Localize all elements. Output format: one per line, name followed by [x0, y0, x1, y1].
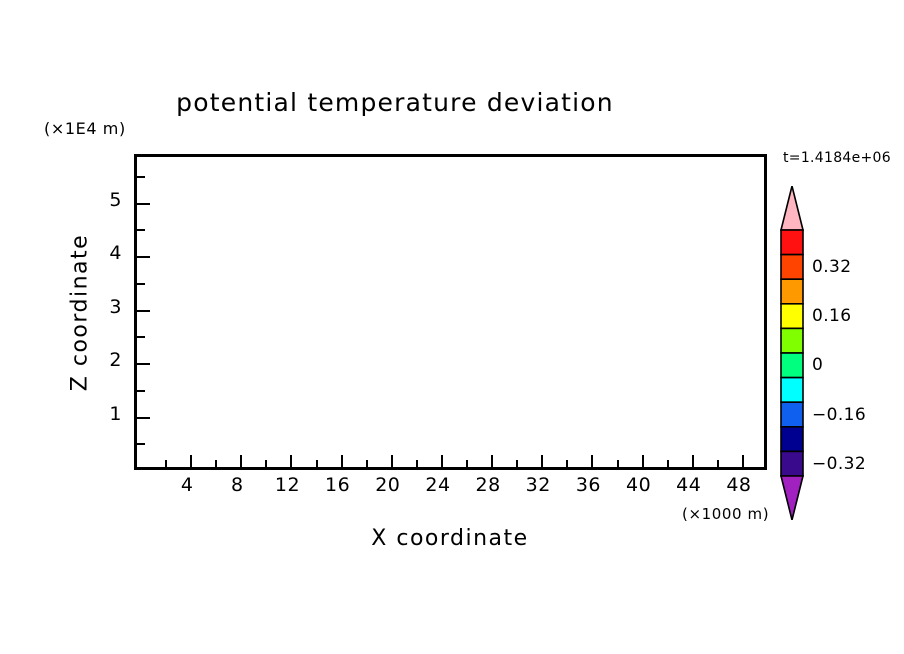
x-tick-label: 8 [231, 474, 244, 496]
x-tick-major [491, 455, 493, 467]
x-tick-label: 24 [425, 474, 450, 496]
y-tick-major [137, 310, 150, 312]
contour-field-canvas [137, 157, 764, 467]
y-tick-major [137, 203, 150, 205]
x-tick-major [240, 455, 242, 467]
x-tick-major [341, 455, 343, 467]
x-tick-minor [466, 460, 468, 467]
x-tick-label: 28 [476, 474, 501, 496]
x-tick-label: 48 [726, 474, 751, 496]
x-tick-major [391, 455, 393, 467]
x-axis-title: X coordinate [0, 526, 900, 551]
x-tick-label: 20 [375, 474, 400, 496]
y-axis-unit-label: (×1E4 m) [44, 119, 126, 138]
x-tick-label: 4 [181, 474, 194, 496]
y-tick-label: 2 [96, 349, 122, 371]
x-tick-minor [516, 460, 518, 467]
plot-area [134, 154, 767, 470]
y-tick-minor [137, 336, 145, 338]
timestamp-annotation: t=1.4184e+06 [783, 150, 891, 166]
x-tick-major [742, 455, 744, 467]
x-tick-minor [366, 460, 368, 467]
x-tick-major [290, 455, 292, 467]
y-tick-major [137, 256, 150, 258]
x-tick-label: 32 [526, 474, 551, 496]
colorbar-tick-label: −0.16 [812, 405, 866, 425]
x-tick-minor [215, 460, 217, 467]
y-tick-label: 5 [96, 189, 122, 211]
x-tick-minor [265, 460, 267, 467]
y-axis-title: Z coordinate [68, 213, 93, 413]
x-tick-label: 44 [676, 474, 701, 496]
x-tick-minor [566, 460, 568, 467]
x-tick-major [591, 455, 593, 467]
x-tick-major [541, 455, 543, 467]
colorbar-tick-label: −0.32 [812, 454, 866, 474]
x-tick-minor [316, 460, 318, 467]
x-axis-unit-label: (×1000 m) [682, 505, 769, 523]
page-title: potential temperature deviation [0, 88, 790, 117]
y-tick-minor [137, 229, 145, 231]
y-tick-major [137, 363, 150, 365]
x-tick-major [190, 455, 192, 467]
x-tick-minor [617, 460, 619, 467]
x-tick-minor [416, 460, 418, 467]
y-tick-minor [137, 176, 145, 178]
y-tick-minor [137, 443, 145, 445]
colorbar-tick-label: 0 [812, 355, 823, 375]
y-tick-label: 3 [96, 296, 122, 318]
x-tick-label: 16 [325, 474, 350, 496]
x-tick-minor [165, 460, 167, 467]
x-tick-label: 36 [576, 474, 601, 496]
x-tick-minor [717, 460, 719, 467]
x-tick-major [692, 455, 694, 467]
colorbar [779, 186, 805, 520]
colorbar-tick-label: 0.32 [812, 257, 851, 277]
x-tick-major [642, 455, 644, 467]
colorbar-tick-label: 0.16 [812, 306, 851, 326]
plot-root: potential temperature deviation (×1E4 m)… [0, 0, 904, 654]
x-tick-label: 40 [626, 474, 651, 496]
x-tick-major [441, 455, 443, 467]
y-tick-major [137, 417, 150, 419]
x-tick-label: 12 [275, 474, 300, 496]
y-tick-label: 1 [96, 403, 122, 425]
y-tick-minor [137, 390, 145, 392]
x-tick-minor [667, 460, 669, 467]
y-tick-minor [137, 283, 145, 285]
y-tick-label: 4 [96, 242, 122, 264]
